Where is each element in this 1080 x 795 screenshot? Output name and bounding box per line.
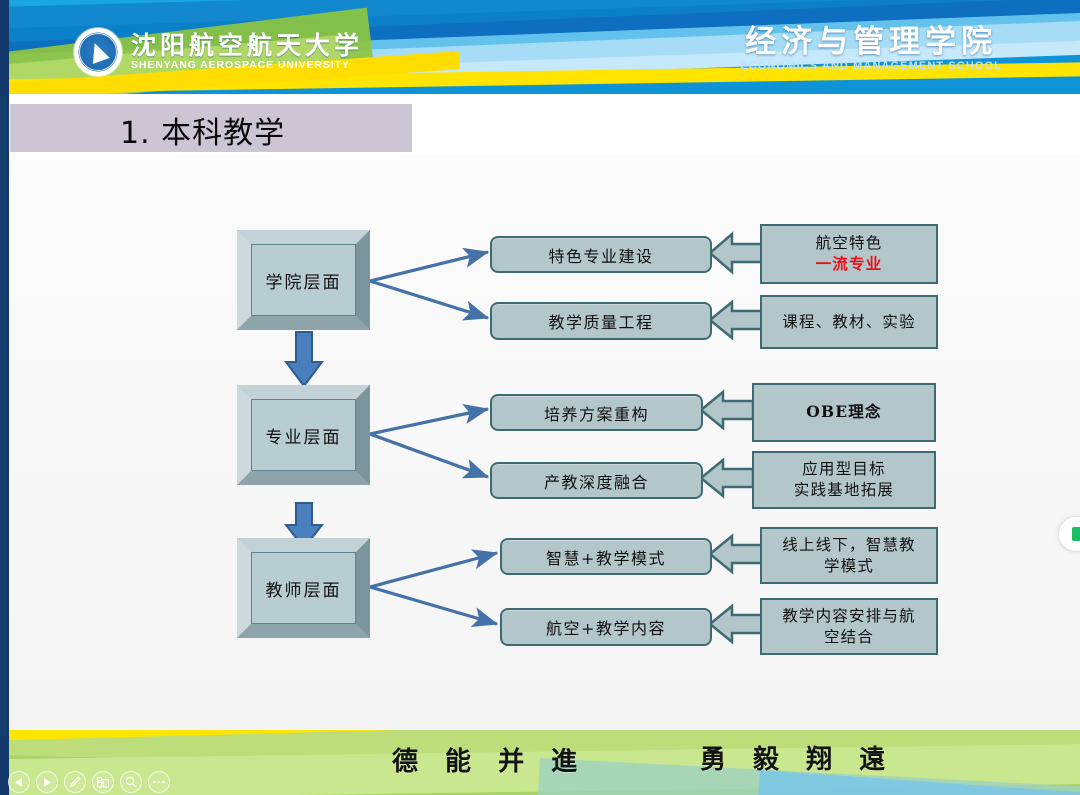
middle-box-program-restructure[interactable]: 培养方案重构 <box>490 394 703 431</box>
middle-box-label: 教学质量工程 <box>548 309 653 333</box>
slide-left-edge-lower <box>0 96 6 736</box>
right-box-line1: 教学内容安排与航 <box>782 607 916 625</box>
block-arrow-icon <box>708 600 764 648</box>
right-box-line1: 线上线下，智慧教 <box>782 536 916 554</box>
grid-icon <box>97 777 109 788</box>
right-box-aviation-feature[interactable]: 航空特色 一流专业 <box>760 224 938 284</box>
school-branding: 经济与管理学院 ECONOMICS AND MANAGEMENT SCHOOL <box>740 26 1002 72</box>
right-box-obe-concept[interactable]: OBE理念 <box>752 383 936 442</box>
middle-box-label: 产教深度融合 <box>544 469 649 493</box>
level-box-label: 学院层面 <box>266 268 342 293</box>
middle-box-teaching-quality[interactable]: 教学质量工程 <box>490 302 712 340</box>
block-arrow-icon <box>699 386 755 434</box>
footer-motto-right: 勇 毅 翔 遠 <box>700 739 894 776</box>
middle-box-label: 特色专业建设 <box>548 243 653 267</box>
university-name-cn: 沈阳航空航天大学 <box>131 33 363 59</box>
pen-tool-button[interactable] <box>64 771 86 793</box>
right-box-online-offline[interactable]: 线上线下，智慧教 学模式 <box>760 527 938 584</box>
right-box-line1: OBE理念 <box>806 402 881 421</box>
triangle-right-icon <box>43 778 51 787</box>
zoom-button[interactable] <box>120 771 142 793</box>
university-name-en: SHENYANG AEROSPACE UNIVERSITY <box>131 59 363 72</box>
school-name-en: ECONOMICS AND MANAGEMENT SCHOOL <box>740 60 1002 72</box>
previous-slide-button[interactable] <box>8 771 30 793</box>
slide-view-button[interactable] <box>92 771 114 793</box>
level-box-label: 教师层面 <box>266 576 342 601</box>
school-name-cn: 经济与管理学院 <box>740 26 1002 59</box>
block-arrow-icon <box>708 530 764 578</box>
level-box-major[interactable]: 专业层面 <box>237 385 370 485</box>
triangle-left-icon <box>15 778 23 787</box>
block-arrow-icon <box>708 296 764 344</box>
middle-box-specialty-construction[interactable]: 特色专业建设 <box>490 236 712 273</box>
right-box-line2: 空结合 <box>824 628 874 646</box>
university-seal-icon <box>74 28 122 76</box>
presentation-slide: 沈阳航空航天大学 SHENYANG AEROSPACE UNIVERSITY 经… <box>0 0 1080 795</box>
footer-motto-left: 德 能 并 進 <box>392 741 586 778</box>
right-box-line2: 实践基地拓展 <box>794 481 894 499</box>
middle-box-label: 智慧+教学模式 <box>546 545 666 569</box>
right-box-line1: 航空特色 <box>816 234 883 252</box>
block-arrow-icon <box>699 454 755 502</box>
middle-box-industry-education[interactable]: 产教深度融合 <box>490 462 703 499</box>
slideshow-controls <box>8 771 170 793</box>
next-slide-button[interactable] <box>36 771 58 793</box>
right-box-line1: 课程、教材、实验 <box>782 313 916 331</box>
magnifier-icon <box>125 776 137 788</box>
middle-box-label: 航空+教学内容 <box>546 615 666 639</box>
right-box-line2: 一流专业 <box>816 254 883 273</box>
block-arrow-icon <box>708 228 764 278</box>
middle-box-smart-teaching-mode[interactable]: 智慧+教学模式 <box>500 538 712 575</box>
right-box-content-aviation[interactable]: 教学内容安排与航 空结合 <box>760 598 938 655</box>
middle-box-label: 培养方案重构 <box>544 401 649 425</box>
right-box-line1: 应用型目标 <box>802 460 886 478</box>
middle-box-aviation-content[interactable]: 航空+教学内容 <box>500 608 712 646</box>
level-box-teacher[interactable]: 教师层面 <box>237 538 370 638</box>
right-box-course-material-lab[interactable]: 课程、教材、实验 <box>760 295 938 349</box>
right-box-applied-goal[interactable]: 应用型目标 实践基地拓展 <box>752 451 936 509</box>
level-box-label: 专业层面 <box>266 423 342 448</box>
pen-icon <box>69 776 81 788</box>
university-logo: 沈阳航空航天大学 SHENYANG AEROSPACE UNIVERSITY <box>74 28 363 76</box>
level-box-college[interactable]: 学院层面 <box>237 230 370 330</box>
ellipsis-icon <box>153 781 165 784</box>
more-options-button[interactable] <box>148 771 170 793</box>
right-box-line2: 学模式 <box>824 557 874 575</box>
